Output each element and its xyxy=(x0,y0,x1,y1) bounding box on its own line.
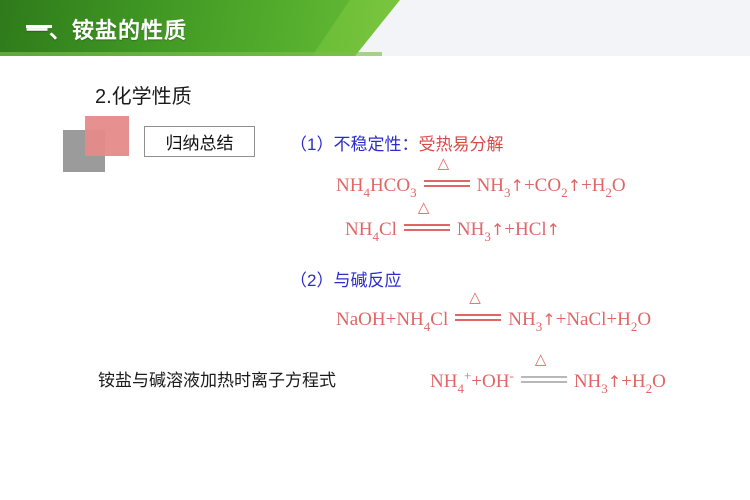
equation-token: 3 xyxy=(504,185,511,200)
equation-ammonium-bicarbonate: NH4HCO3△NH3↑+CO2↑+H2O xyxy=(336,173,626,197)
equation-token: ↑ xyxy=(568,176,581,195)
equation-token: O xyxy=(612,175,626,196)
equation-token: NH xyxy=(574,371,601,392)
heat-triangle-symbol: △ xyxy=(535,352,547,367)
decorative-red-square xyxy=(85,116,129,156)
point-1-heading: （1）不稳定性：受热易分解 xyxy=(290,130,503,155)
equation-token: + xyxy=(581,175,592,196)
equation-token: 2 xyxy=(605,185,612,200)
point-1-separator: ： xyxy=(401,135,418,154)
equation-token: + xyxy=(556,309,567,330)
equation-token: 2 xyxy=(646,381,653,396)
slide-banner: 一、铵盐的性质 xyxy=(0,0,750,56)
arrow-line-bottom xyxy=(455,319,501,321)
equation-token: NH xyxy=(430,371,457,392)
equation-token: NH xyxy=(336,175,363,196)
equation-token: NH xyxy=(477,175,504,196)
equation-token: ↑ xyxy=(491,220,504,239)
equation-token: 2 xyxy=(631,319,638,334)
equation-ionic: NH4++OH-△NH3↑+H2O xyxy=(430,369,666,393)
equation-token: HCl xyxy=(515,219,547,240)
equation-token: H xyxy=(617,309,631,330)
equation-token: H xyxy=(632,371,646,392)
equation-token: NH xyxy=(345,219,372,240)
equation-token: 3 xyxy=(484,229,491,244)
summary-label-text: 归纳总结 xyxy=(166,129,234,154)
equation-token: 4 xyxy=(363,185,370,200)
equation-token: + xyxy=(386,309,397,330)
equation-products: NH3↑+HCl↑ xyxy=(457,219,560,241)
point-1-keyword: 不稳定性 xyxy=(333,135,401,154)
equation-token: 3 xyxy=(410,185,417,200)
slide-canvas: 一、铵盐的性质 2.化学性质 归纳总结 （1）不稳定性：受热易分解 （2）与碱反… xyxy=(0,0,750,500)
equation-token: O xyxy=(637,309,651,330)
equation-token: ↑ xyxy=(542,310,555,329)
equation-token: Cl xyxy=(430,309,448,330)
arrow-line-bottom xyxy=(424,185,470,187)
arrow-line-bottom xyxy=(404,229,450,231)
equation-token: 4 xyxy=(372,229,379,244)
equation-token: HCO xyxy=(370,175,410,196)
equation-token: NaOH xyxy=(336,309,386,330)
equation-products: NH3↑+NaCl+H2O xyxy=(508,309,651,331)
equation-token: CO xyxy=(535,175,561,196)
heat-triangle-symbol: △ xyxy=(418,200,430,215)
reaction-arrow: △ xyxy=(521,369,567,387)
equation-token: NH xyxy=(508,309,535,330)
equation-token: 4 xyxy=(457,381,464,396)
equation-token: ↑ xyxy=(547,220,560,239)
heat-triangle-symbol: △ xyxy=(469,290,481,305)
equation-token: OH xyxy=(482,371,509,392)
equation-reactants: NaOH+NH4Cl xyxy=(336,309,448,331)
arrow-line-top xyxy=(424,180,470,182)
arrow-line-top xyxy=(455,314,501,316)
equation-token: 2 xyxy=(561,185,568,200)
equation-token: H xyxy=(592,175,606,196)
ionic-equation-caption: 铵盐与碱溶液加热时离子方程式 xyxy=(98,366,336,391)
equation-products: NH3↑+H2O xyxy=(574,371,666,393)
reaction-arrow: △ xyxy=(404,217,450,235)
point-2-heading: （2）与碱反应 xyxy=(290,266,401,291)
point-2-prefix: （2） xyxy=(290,271,333,290)
equation-sodium-hydroxide-ammonium-chloride: NaOH+NH4Cl△NH3↑+NaCl+H2O xyxy=(336,307,651,331)
equation-token: O xyxy=(652,371,666,392)
heat-triangle-symbol: △ xyxy=(438,156,450,171)
reaction-arrow: △ xyxy=(455,307,501,325)
equation-token: NH xyxy=(396,309,423,330)
equation-token: NH xyxy=(457,219,484,240)
equation-token: + xyxy=(621,371,632,392)
equation-reactants: NH4++OH- xyxy=(430,371,514,393)
subheading: 2.化学性质 xyxy=(95,80,192,109)
summary-label-box: 归纳总结 xyxy=(144,126,255,157)
point-1-prefix: （1） xyxy=(290,135,333,154)
arrow-line-bottom xyxy=(521,381,567,383)
equation-reactants: NH4Cl xyxy=(345,219,397,241)
arrow-line-top xyxy=(404,224,450,226)
page-title: 一、铵盐的性质 xyxy=(26,13,187,45)
equation-token: + xyxy=(471,371,482,392)
equation-token: - xyxy=(509,368,513,383)
equation-token: 4 xyxy=(424,319,431,334)
point-2-keyword: 与碱反应 xyxy=(333,271,401,290)
equation-products: NH3↑+CO2↑+H2O xyxy=(477,175,626,197)
arrow-line-top xyxy=(521,376,567,378)
point-1-detail: 受热易分解 xyxy=(418,135,503,154)
equation-token: 3 xyxy=(601,381,608,396)
equation-token: Cl xyxy=(379,219,397,240)
equation-token: + xyxy=(606,309,617,330)
equation-reactants: NH4HCO3 xyxy=(336,175,417,197)
equation-token: ↑ xyxy=(608,372,621,391)
equation-token: NaCl xyxy=(566,309,606,330)
equation-token: + xyxy=(524,175,535,196)
equation-token: + xyxy=(504,219,515,240)
equation-ammonium-chloride: NH4Cl△NH3↑+HCl↑ xyxy=(345,217,560,241)
banner-underline xyxy=(0,52,382,56)
equation-token: ↑ xyxy=(511,176,524,195)
equation-token: + xyxy=(464,368,471,383)
reaction-arrow: △ xyxy=(424,173,470,191)
